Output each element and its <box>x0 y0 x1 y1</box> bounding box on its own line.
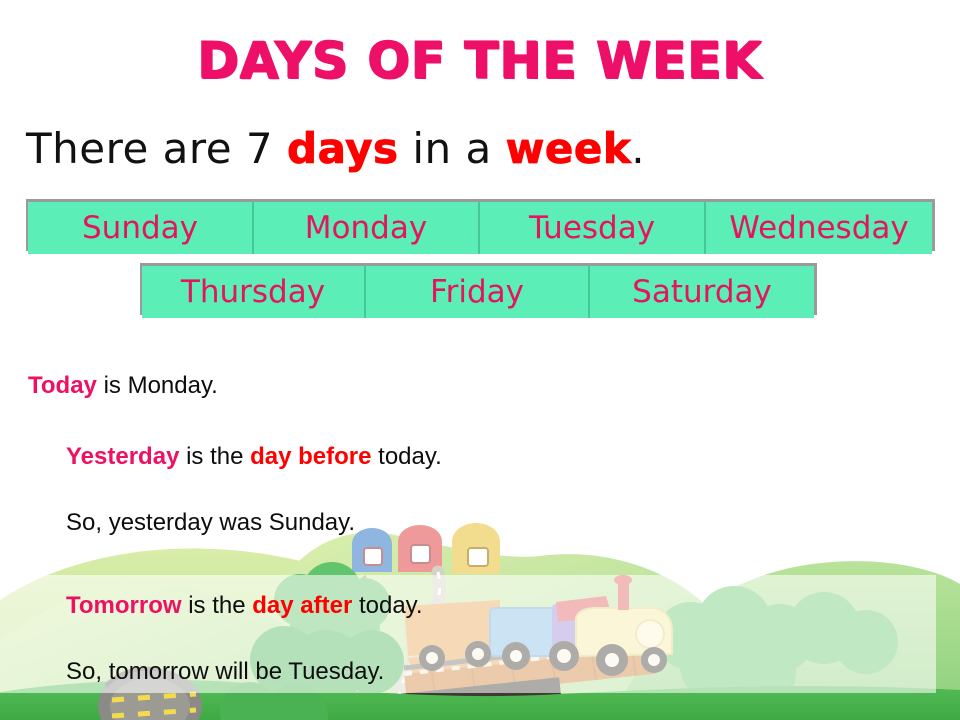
days-row-2-frame: Thursday Friday Saturday <box>142 266 814 318</box>
body-line-5-seg-0: So, tomorrow will be Tuesday. <box>66 658 384 685</box>
body-line-3-seg-0: So, yesterday was Sunday. <box>66 509 355 536</box>
page-title: DAYS OF THE WEEK <box>0 32 960 90</box>
days-table-row-1: Sunday Monday Tuesday Wednesday <box>28 202 932 254</box>
subtitle-highlight-days: days <box>287 124 399 173</box>
body-line-4-seg-0: Tomorrow <box>66 592 182 619</box>
body-line-tomorrow-answer: So, tomorrow will be Tuesday. <box>66 658 384 686</box>
body-line-yesterday-answer: So, yesterday was Sunday. <box>66 509 355 537</box>
body-line-4-seg-3: today. <box>352 592 422 619</box>
day-cell-sunday[interactable]: Sunday <box>28 202 254 254</box>
subtitle-highlight-week: week <box>506 124 632 173</box>
body-line-today: Today is Monday. <box>28 372 218 400</box>
days-table-row-2: Thursday Friday Saturday <box>142 266 814 318</box>
subtitle-line: There are 7 days in a week. <box>26 124 645 173</box>
body-line-2-seg-1: is the <box>179 443 250 470</box>
body-line-tomorrow-definition: Tomorrow is the day after today. <box>66 592 423 620</box>
body-line-1-seg-0: Today <box>28 372 97 399</box>
body-line-4-seg-1: is the <box>182 592 253 619</box>
body-line-4-seg-2: day after <box>252 592 352 619</box>
day-cell-friday[interactable]: Friday <box>366 266 590 318</box>
body-line-yesterday-definition: Yesterday is the day before today. <box>66 443 442 471</box>
day-cell-wednesday[interactable]: Wednesday <box>706 202 932 254</box>
slide-canvas: DAYS OF THE WEEK There are 7 days in a w… <box>0 0 960 720</box>
day-cell-saturday[interactable]: Saturday <box>590 266 814 318</box>
body-line-2-seg-0: Yesterday <box>66 443 179 470</box>
day-cell-monday[interactable]: Monday <box>254 202 480 254</box>
body-line-2-seg-2: day before <box>250 443 371 470</box>
day-cell-tuesday[interactable]: Tuesday <box>480 202 706 254</box>
body-line-1-seg-1: is Monday. <box>97 372 218 399</box>
days-row-1-frame: Sunday Monday Tuesday Wednesday <box>28 202 932 254</box>
body-line-2-seg-3: today. <box>372 443 442 470</box>
subtitle-part-2: in a <box>399 124 506 173</box>
subtitle-part-1: There are 7 <box>26 124 287 173</box>
subtitle-part-3: . <box>631 124 645 173</box>
day-cell-thursday[interactable]: Thursday <box>142 266 366 318</box>
